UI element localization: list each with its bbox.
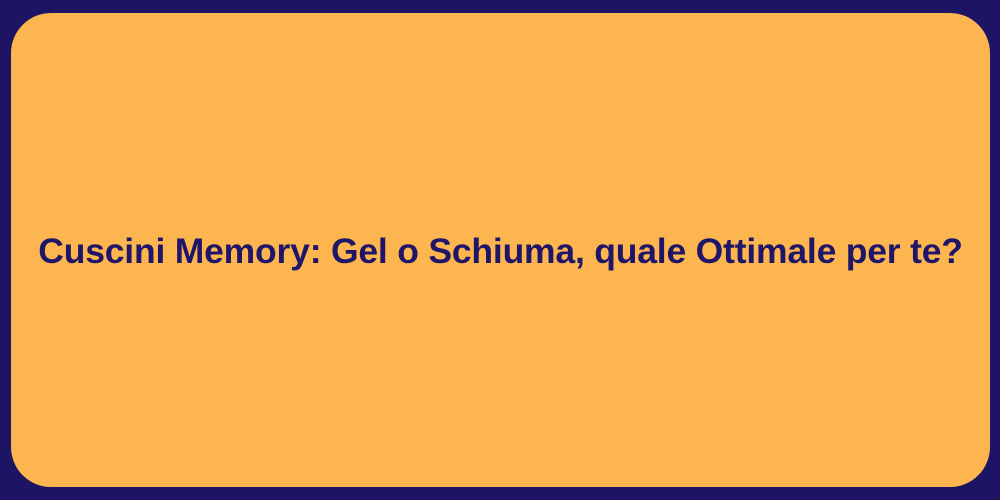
page-frame: Cuscini Memory: Gel o Schiuma, quale Ott…: [0, 0, 1000, 500]
page-title: Cuscini Memory: Gel o Schiuma, quale Ott…: [11, 229, 990, 273]
content-card: Cuscini Memory: Gel o Schiuma, quale Ott…: [11, 13, 990, 487]
